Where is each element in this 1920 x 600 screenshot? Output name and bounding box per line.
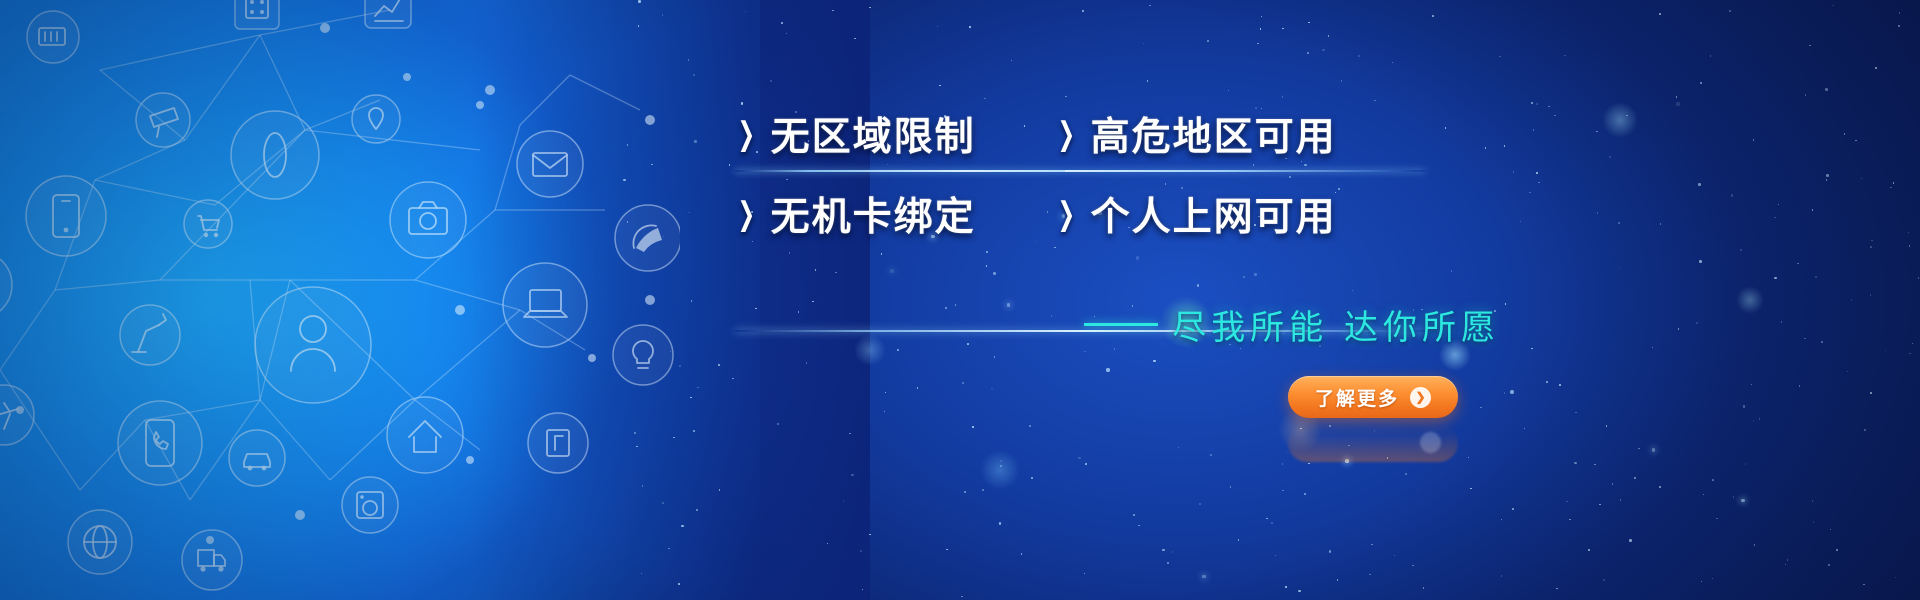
banner-content: ❯ 无区域限制 ❯ 高危地区可用 ❯ 无机卡绑定 ❯ 个人上网可用 <box>735 96 1555 252</box>
divider-line-left <box>735 170 1065 172</box>
feature-item-no-region-limit[interactable]: ❯ 无区域限制 <box>735 96 1055 172</box>
cta-reflection-arrow <box>1420 432 1441 453</box>
feature-label: 个人上网可用 <box>1091 186 1337 242</box>
vignette-overlay <box>0 0 1920 600</box>
chevron-right-icon: ❯ <box>737 198 755 230</box>
cta-label: 了解更多 <box>1315 384 1399 411</box>
chevron-right-icon: ❯ <box>1057 118 1075 150</box>
divider-line-right <box>1065 170 1425 172</box>
feature-row-2: ❯ 无机卡绑定 ❯ 个人上网可用 <box>735 176 1525 252</box>
cta-block: 了解更多 ❯ <box>1288 376 1458 418</box>
learn-more-button[interactable]: 了解更多 ❯ <box>1288 376 1458 418</box>
slogan-text: 尽我所能 达你所愿 <box>1172 300 1500 349</box>
feature-grid: ❯ 无区域限制 ❯ 高危地区可用 ❯ 无机卡绑定 ❯ 个人上网可用 <box>735 96 1525 252</box>
slogan-dash-decoration <box>1084 323 1158 326</box>
slogan-block: 尽我所能 达你所愿 <box>1040 300 1500 349</box>
feature-item-no-card-binding[interactable]: ❯ 无机卡绑定 <box>735 176 1055 252</box>
feature-row-1: ❯ 无区域限制 ❯ 高危地区可用 <box>735 96 1525 172</box>
feature-item-high-risk-area[interactable]: ❯ 高危地区可用 <box>1055 96 1385 172</box>
feature-item-personal-internet[interactable]: ❯ 个人上网可用 <box>1055 176 1385 252</box>
promo-banner: .ln{stroke:rgba(226,243,255,.42);stroke-… <box>0 0 1920 600</box>
feature-label: 无机卡绑定 <box>771 186 976 242</box>
chevron-right-icon: ❯ <box>737 118 755 150</box>
chevron-right-icon: ❯ <box>1057 198 1075 230</box>
cta-reflection <box>1288 424 1458 462</box>
feature-label: 高危地区可用 <box>1091 106 1337 162</box>
chevron-right-icon: ❯ <box>1410 387 1431 408</box>
feature-label: 无区域限制 <box>771 106 976 162</box>
slogan-text-group: 尽我所能 达你所愿 <box>1084 300 1500 349</box>
